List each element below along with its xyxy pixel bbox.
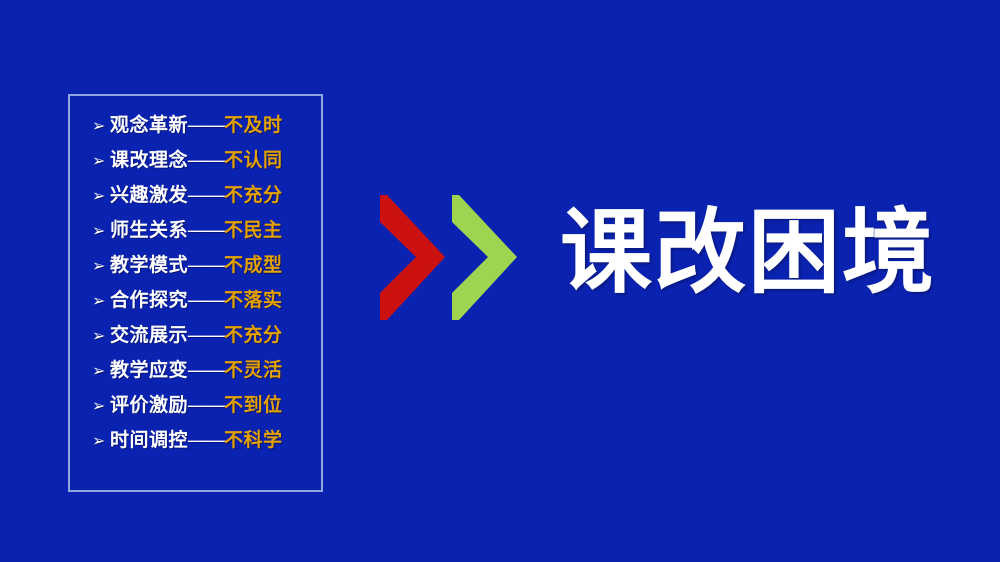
arrow-bullet-icon: ➢ xyxy=(92,248,110,283)
arrow-bullet-icon: ➢ xyxy=(92,423,110,458)
list-item-dash: —— xyxy=(188,213,224,248)
problem-list-panel: ➢观念革新——不及时➢课改理念——不认同➢兴趣激发——不充分➢师生关系——不民主… xyxy=(68,94,323,492)
list-item-dash: —— xyxy=(188,108,224,143)
list-item-topic: 教学应变 xyxy=(110,353,188,388)
list-item-dash: —— xyxy=(188,353,224,388)
chevron-arrow-group xyxy=(380,195,525,320)
list-item-topic: 评价激励 xyxy=(110,388,188,423)
list-item-problem: 不充分 xyxy=(224,178,283,213)
chevron-right-red-icon xyxy=(380,195,445,320)
list-item-topic: 师生关系 xyxy=(110,213,188,248)
list-item-problem: 不科学 xyxy=(224,423,283,458)
list-item-topic: 兴趣激发 xyxy=(110,178,188,213)
slide-title: 课改困境 xyxy=(560,193,936,311)
arrow-bullet-icon: ➢ xyxy=(92,143,110,178)
list-item-topic: 合作探究 xyxy=(110,283,188,318)
list-item: ➢教学模式——不成型 xyxy=(70,248,321,283)
list-item: ➢观念革新——不及时 xyxy=(70,108,321,143)
list-item-dash: —— xyxy=(188,178,224,213)
list-item-dash: —— xyxy=(188,423,224,458)
list-item-problem: 不民主 xyxy=(224,213,283,248)
list-item: ➢师生关系——不民主 xyxy=(70,213,321,248)
list-item-dash: —— xyxy=(188,143,224,178)
list-item-topic: 教学模式 xyxy=(110,248,188,283)
chevron-right-green-icon xyxy=(452,195,517,320)
list-item-problem: 不及时 xyxy=(224,108,283,143)
presentation-slide: ➢观念革新——不及时➢课改理念——不认同➢兴趣激发——不充分➢师生关系——不民主… xyxy=(0,0,1000,562)
arrow-bullet-icon: ➢ xyxy=(92,388,110,423)
list-item-topic: 时间调控 xyxy=(110,423,188,458)
arrow-bullet-icon: ➢ xyxy=(92,353,110,388)
arrow-bullet-icon: ➢ xyxy=(92,213,110,248)
list-item-problem: 不落实 xyxy=(224,283,283,318)
list-item-dash: —— xyxy=(188,388,224,423)
list-item-topic: 观念革新 xyxy=(110,108,188,143)
list-item: ➢教学应变——不灵活 xyxy=(70,353,321,388)
list-item-problem: 不到位 xyxy=(224,388,283,423)
problem-list: ➢观念革新——不及时➢课改理念——不认同➢兴趣激发——不充分➢师生关系——不民主… xyxy=(70,108,321,458)
list-item: ➢兴趣激发——不充分 xyxy=(70,178,321,213)
list-item: ➢课改理念——不认同 xyxy=(70,143,321,178)
list-item-dash: —— xyxy=(188,283,224,318)
list-item-problem: 不认同 xyxy=(224,143,283,178)
list-item: ➢时间调控——不科学 xyxy=(70,423,321,458)
list-item-problem: 不成型 xyxy=(224,248,283,283)
chevron-green-shape xyxy=(452,195,517,320)
arrow-bullet-icon: ➢ xyxy=(92,178,110,213)
list-item-problem: 不灵活 xyxy=(224,353,283,388)
list-item-dash: —— xyxy=(188,318,224,353)
list-item-topic: 课改理念 xyxy=(110,143,188,178)
list-item-problem: 不充分 xyxy=(224,318,283,353)
arrow-bullet-icon: ➢ xyxy=(92,318,110,353)
list-item-dash: —— xyxy=(188,248,224,283)
arrow-bullet-icon: ➢ xyxy=(92,283,110,318)
list-item: ➢合作探究——不落实 xyxy=(70,283,321,318)
arrow-bullet-icon: ➢ xyxy=(92,108,110,143)
chevron-red-shape xyxy=(380,195,445,320)
list-item: ➢交流展示——不充分 xyxy=(70,318,321,353)
list-item: ➢评价激励——不到位 xyxy=(70,388,321,423)
list-item-topic: 交流展示 xyxy=(110,318,188,353)
